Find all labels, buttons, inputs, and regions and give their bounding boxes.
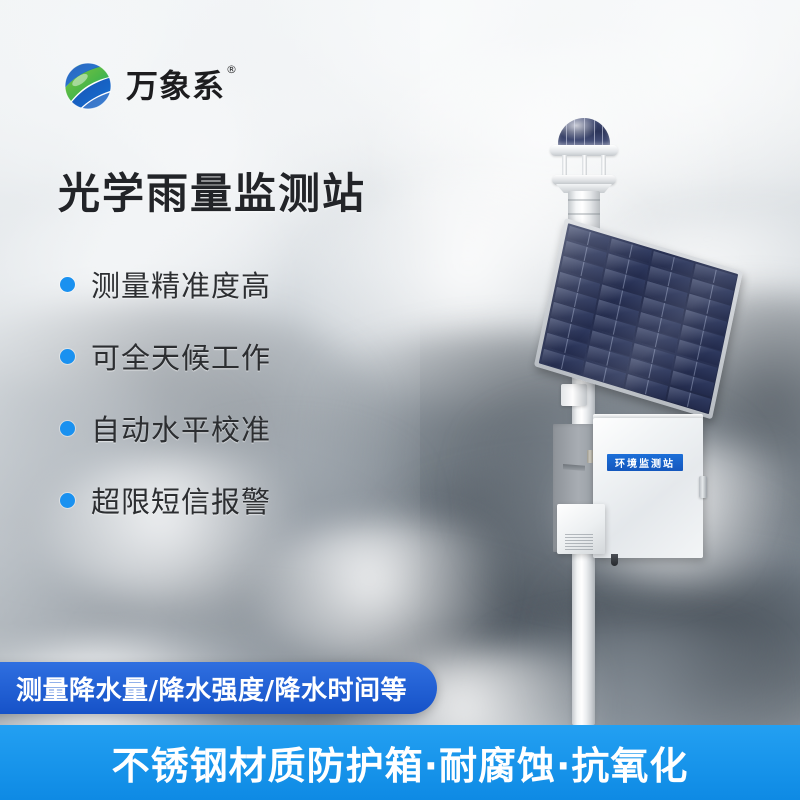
sensor-post (582, 155, 587, 177)
enclosure-latch (699, 476, 707, 498)
bullet-dot-icon (60, 277, 75, 292)
solar-panel-assembly (565, 218, 765, 398)
brand-name-wrapper: 万象系® (126, 70, 238, 102)
enclosure-label: 环境监测站 (607, 454, 683, 471)
enclosure-hinge (587, 450, 593, 463)
bottom-banner-text: 不锈钢材质防护箱·耐腐蚀·抗氧化 (112, 735, 689, 790)
bullet-dot-icon (60, 349, 75, 364)
bracket-clamp (561, 384, 587, 406)
globe-swirl-logo-icon (60, 58, 116, 114)
sensor-post (601, 155, 606, 177)
feature-label: 可全天候工作 (91, 335, 271, 377)
enclosure-label-text: 环境监测站 (615, 455, 675, 470)
feature-label: 超限短信报警 (91, 479, 271, 521)
enclosure-lower-module (557, 504, 605, 554)
list-item: 超限短信报警 (60, 471, 390, 529)
enclosure-grill (565, 534, 593, 548)
sensor-post (562, 155, 567, 177)
page-title: 光学雨量监测站 (58, 160, 366, 221)
sensor-collar (552, 175, 616, 185)
list-item: 可全天候工作 (60, 327, 390, 385)
bullet-dot-icon (60, 493, 75, 508)
highlight-pill-banner: 测量降水量/降水强度/降水时间等 (0, 662, 437, 714)
feature-label: 自动水平校准 (91, 407, 271, 449)
brand-name: 万象系 (126, 67, 225, 105)
enclosure-vent (563, 464, 585, 471)
pill-banner-text: 测量降水量/降水强度/降水时间等 (16, 670, 407, 707)
enclosure-door: 环境监测站 (593, 418, 703, 558)
trademark-symbol: ® (226, 63, 238, 76)
sensor-dome (558, 118, 610, 148)
feature-label: 测量精准度高 (91, 263, 271, 305)
list-item: 测量精准度高 (60, 255, 390, 313)
brand-logo: 万象系® (60, 58, 238, 114)
product-poster: 环境监测站 (0, 0, 800, 800)
enclosure-drip-cap (611, 554, 618, 566)
bullet-dot-icon (60, 421, 75, 436)
optical-rain-sensor (548, 118, 620, 228)
stainless-steel-enclosure: 环境监测站 (553, 418, 705, 566)
feature-list: 测量精准度高 可全天候工作 自动水平校准 超限短信报警 (60, 255, 390, 543)
bottom-banner: 不锈钢材质防护箱·耐腐蚀·抗氧化 (0, 725, 800, 800)
list-item: 自动水平校准 (60, 399, 390, 457)
